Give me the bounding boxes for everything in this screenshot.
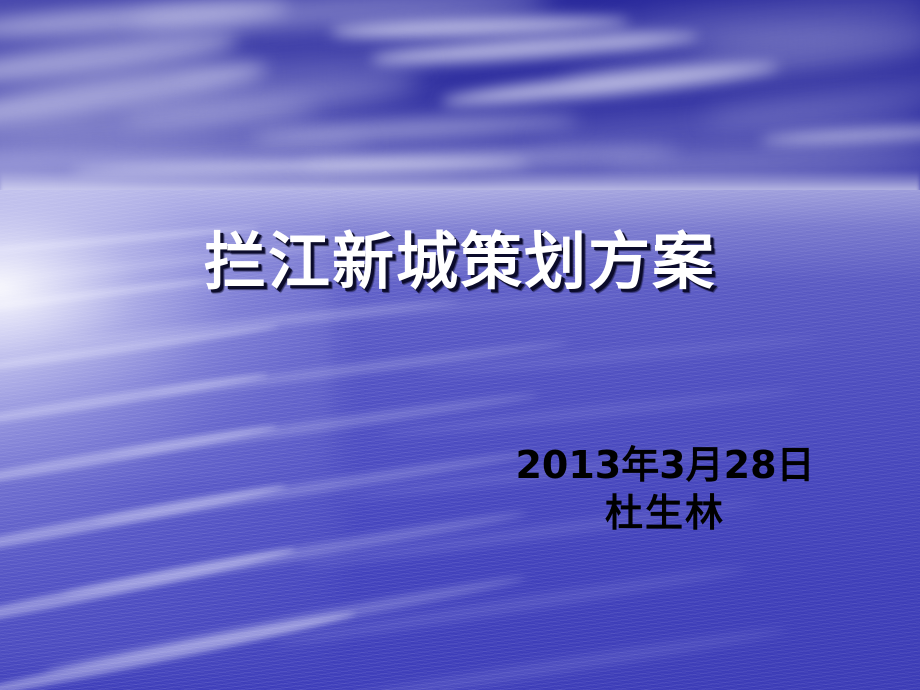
presentation-author: 杜生林 xyxy=(410,488,920,539)
presentation-date: 2013年3月28日 xyxy=(410,443,920,488)
page-title: 拦江新城策划方案 xyxy=(0,226,920,297)
byline: 2013年3月28日 杜生林 xyxy=(410,443,920,539)
title-slide: 拦江新城策划方案 2013年3月28日 杜生林 xyxy=(0,0,920,690)
